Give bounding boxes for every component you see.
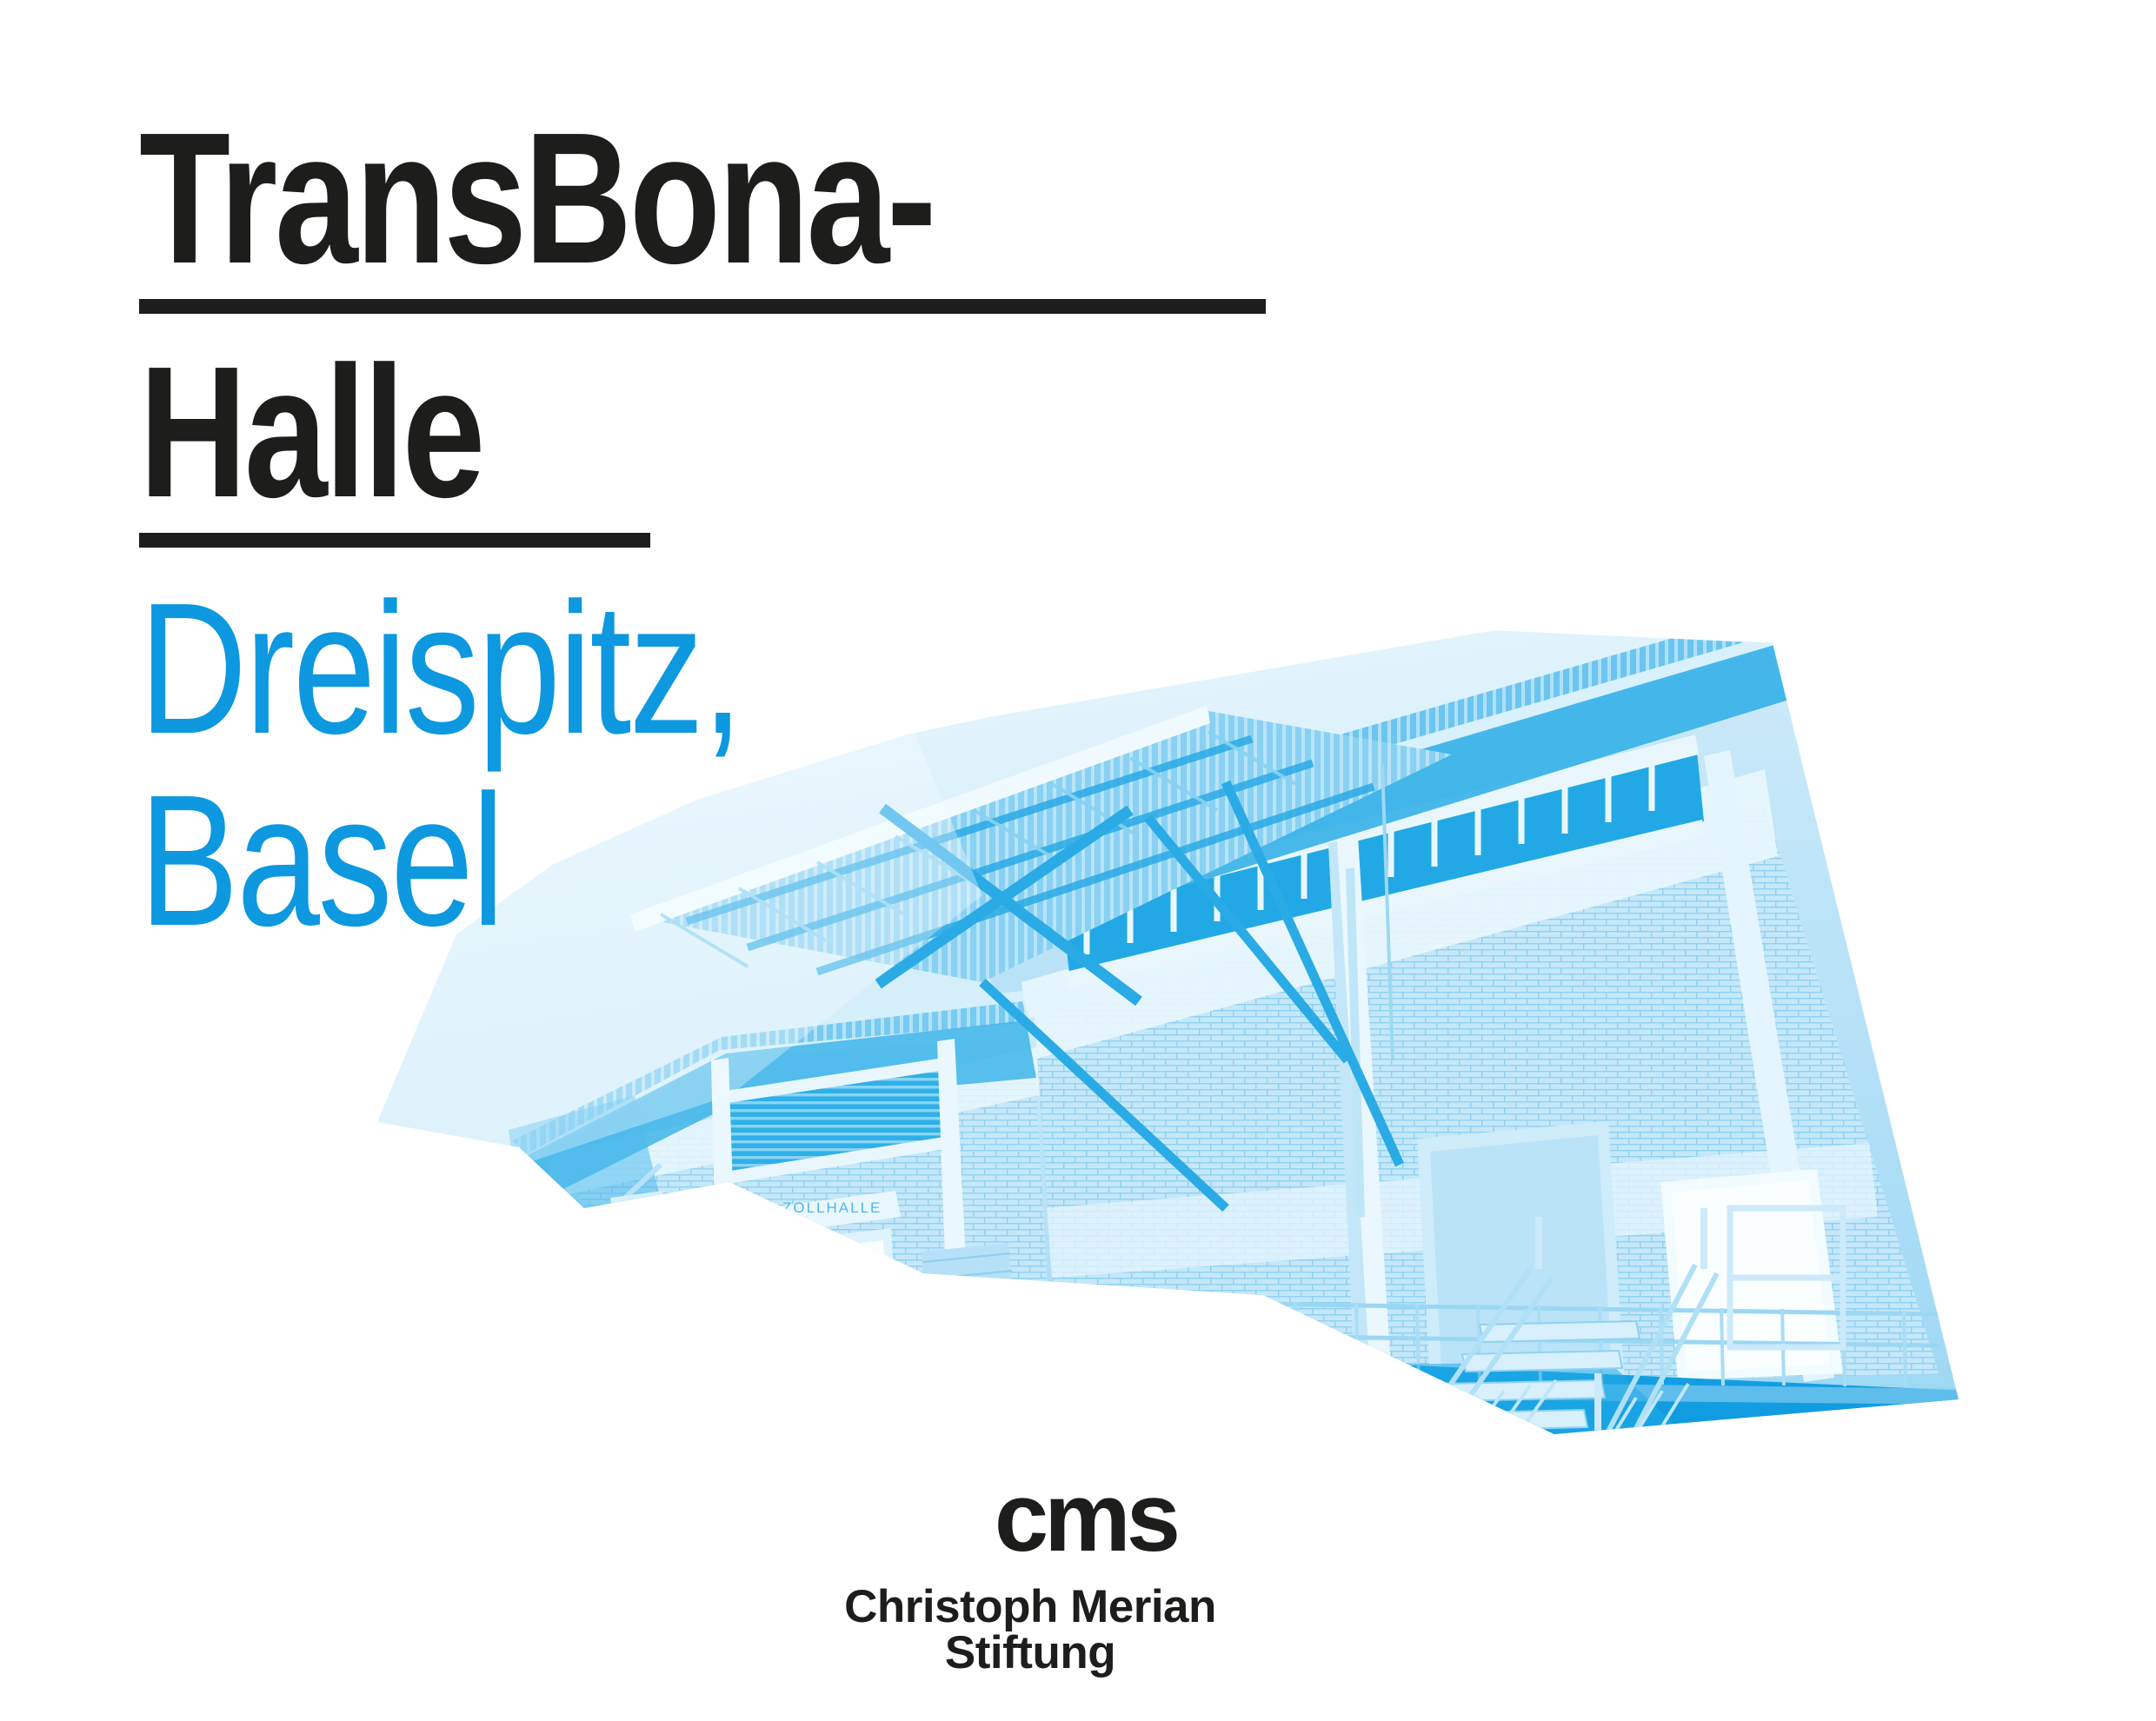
headline-line-1: TransBona-: [139, 104, 1321, 291]
subtitle-line-1: Dreispitz,: [139, 572, 1321, 764]
poster-headline-block: TransBona- Halle Dreispitz, Basel: [139, 104, 1617, 957]
poster-canvas: ZOLLHALLE: [0, 0, 2156, 1721]
headline-line-2: Halle: [139, 338, 1321, 525]
cms-logo-mark: cms: [769, 1469, 1291, 1566]
cms-logo-name: Christoph Merian Stiftung: [769, 1584, 1291, 1676]
subtitle-line-2: Basel: [139, 764, 1321, 956]
zollhalle-sign-text: ZOLLHALLE: [782, 1199, 882, 1216]
cms-logo: cms Christoph Merian Stiftung: [769, 1469, 1291, 1676]
